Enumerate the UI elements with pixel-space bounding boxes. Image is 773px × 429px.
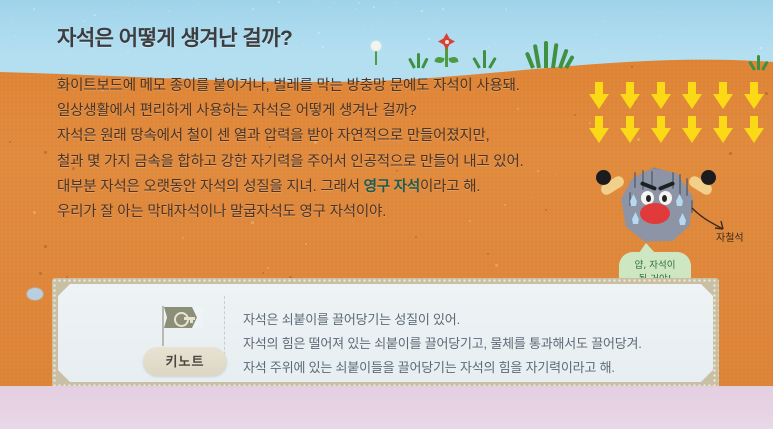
body-line-1: 화이트보드에 메모 종이를 붙이거나, 벌레를 막는 방충망 문에도 자석이 사… bbox=[57, 74, 577, 99]
bottom-page-band bbox=[0, 386, 773, 429]
keynote-line-1: 자석은 쇠붙이를 끌어당기는 성질이 있어. bbox=[243, 308, 713, 332]
open-mouth bbox=[640, 203, 670, 224]
ore-label: 자철석 bbox=[716, 229, 744, 244]
keynote-inner-panel: 키노트 자석은 쇠붙이를 끌어당기는 성질이 있어. 자석의 힘은 떨어져 있는… bbox=[58, 284, 713, 382]
body-paragraph: 화이트보드에 메모 종이를 붙이거나, 벌레를 막는 방충망 문에도 자석이 사… bbox=[57, 74, 577, 225]
down-arrow-icon bbox=[744, 82, 764, 109]
down-arrow-icon bbox=[589, 82, 609, 109]
red-flower-icon bbox=[438, 33, 455, 69]
down-arrow-icon bbox=[713, 116, 733, 143]
grass-clump-icon bbox=[528, 40, 570, 68]
key-icon bbox=[174, 312, 189, 327]
textbook-page: 자석은 어떻게 생겨난 걸까? 화이트보드에 메모 종이를 붙이거나, 벌레를 … bbox=[0, 0, 773, 429]
down-arrow-icon bbox=[589, 116, 609, 143]
downward-arrows-group bbox=[589, 82, 767, 146]
keynote-text: 자석은 쇠붙이를 끌어당기는 성질이 있어. 자석의 힘은 떨어져 있는 쇠붙이… bbox=[243, 308, 713, 380]
dandelion-plant bbox=[371, 41, 383, 67]
keynote-badge: 키노트 bbox=[143, 347, 227, 376]
keynote-box: 키노트 자석은 쇠붙이를 끌어당기는 성질이 있어. 자석의 힘은 떨어져 있는… bbox=[52, 278, 719, 388]
body-line-2: 일상생활에서 편리하게 사용하는 자석은 어떻게 생겨난 걸까? bbox=[57, 99, 577, 124]
body-line-4: 철과 몇 가지 금속을 합하고 강한 자기력을 주어서 인공적으로 만들어 내고… bbox=[57, 150, 577, 175]
grass-sprig-icon bbox=[752, 52, 766, 70]
left-fist bbox=[596, 170, 611, 185]
permanent-magnet-highlight: 영구 자석 bbox=[364, 179, 420, 195]
keynote-line-2: 자석의 힘은 떨어져 있는 쇠붙이를 끌어당기고, 물체를 통과해서도 끌어당겨… bbox=[243, 332, 713, 356]
body-line-5: 대부분 자석은 오랫동안 자석의 성질을 지녀. 그래서 영구 자석이라고 해. bbox=[57, 175, 577, 200]
speech-line-1: 얍, 자석이 bbox=[619, 259, 691, 273]
down-arrow-icon bbox=[682, 116, 702, 143]
keynote-line-3: 자석 주위에 있는 쇠붙이들을 끌어당기는 자석의 힘을 자기력이라고 해. bbox=[243, 356, 713, 380]
down-arrow-icon bbox=[620, 116, 640, 143]
right-fist bbox=[701, 170, 716, 185]
down-arrow-icon bbox=[744, 116, 764, 143]
down-arrow-icon bbox=[651, 82, 671, 109]
flag-pole bbox=[162, 306, 164, 346]
grass-sprig-icon bbox=[477, 48, 491, 68]
down-arrow-icon bbox=[620, 82, 640, 109]
keynote-badge-label: 키노트 bbox=[143, 347, 227, 376]
body-line-6: 우리가 잘 아는 막대자석이나 말굽자석도 영구 자석이야. bbox=[57, 200, 577, 225]
down-arrow-icon bbox=[713, 82, 733, 109]
body-line-5-after: 이라고 해. bbox=[420, 179, 480, 195]
body-line-5-before: 대부분 자석은 오랫동안 자석의 성질을 지녀. 그래서 bbox=[57, 179, 364, 195]
body-line-3: 자석은 원래 땅속에서 철이 센 열과 압력을 받아 자연적으로 만들어졌지만, bbox=[57, 124, 577, 149]
page-title: 자석은 어떻게 생겨난 걸까? bbox=[57, 22, 292, 52]
grass-sprig-icon bbox=[411, 52, 425, 68]
pebble-decoration bbox=[26, 287, 44, 301]
down-arrow-icon bbox=[651, 116, 671, 143]
down-arrow-icon bbox=[682, 82, 702, 109]
